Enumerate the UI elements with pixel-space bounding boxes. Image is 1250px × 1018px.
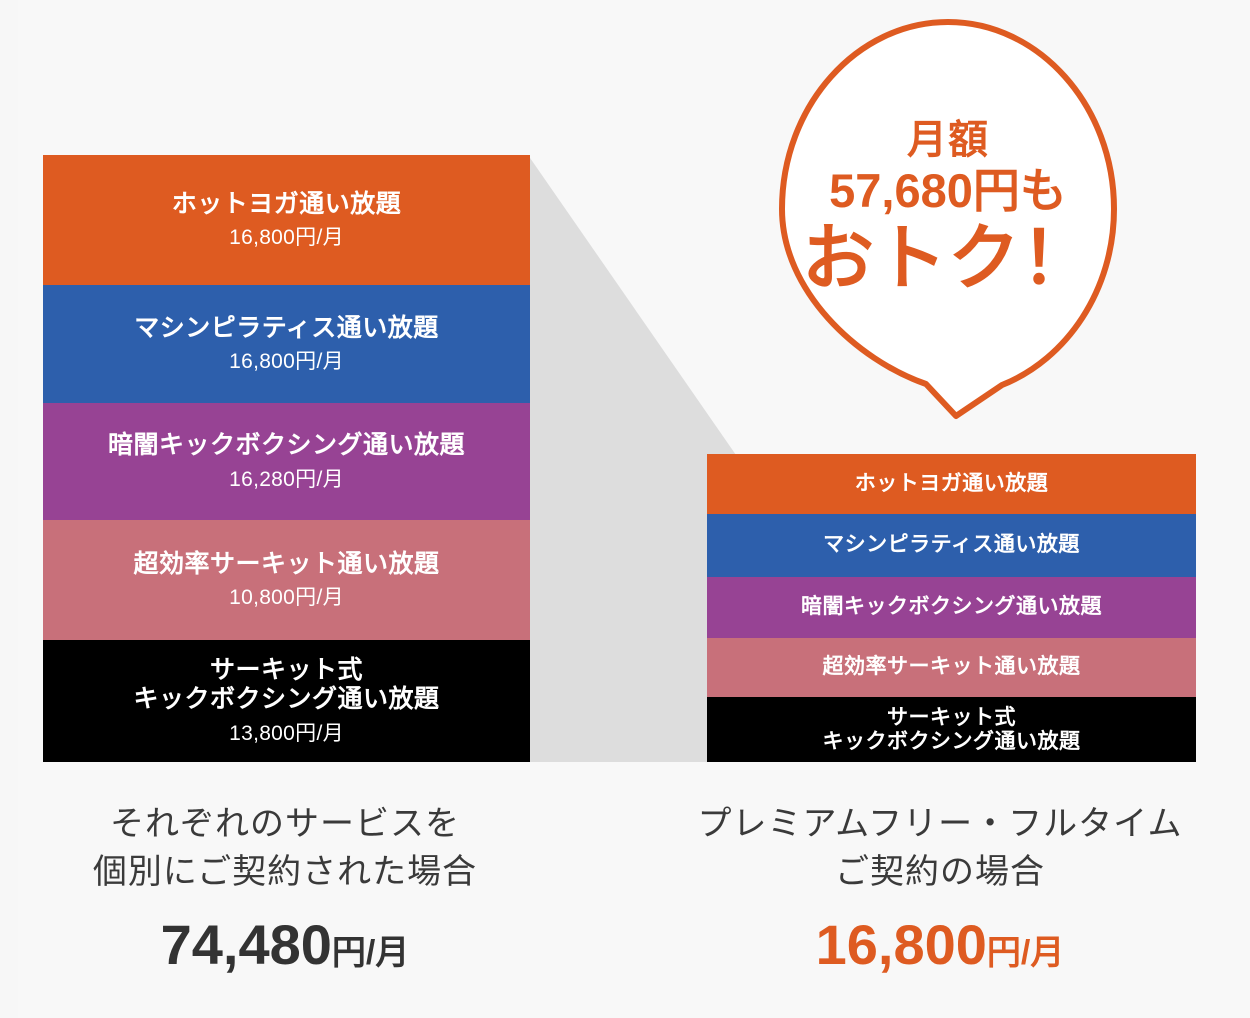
service-bar-circuit-kickboxing: サーキット式 キックボクシング通い放題 xyxy=(707,697,1196,762)
connector-wedge xyxy=(528,155,736,762)
service-bar-label: マシンピラティス通い放題 xyxy=(823,533,1080,558)
premium-total-price: 16,800円/月 xyxy=(660,917,1220,973)
service-bar-label: サーキット式 キックボクシング通い放題 xyxy=(133,656,439,715)
service-bar-efficient-circuit: 超効率サーキット通い放題 xyxy=(707,638,1196,697)
service-bar-circuit-kickboxing: サーキット式 キックボクシング通い放題 13,800円/月 xyxy=(43,640,530,762)
service-bar-label: 暗闇キックボクシング通い放題 xyxy=(108,431,465,461)
caption-line-1: プレミアムフリー・フルタイム xyxy=(660,800,1220,848)
bubble-shape xyxy=(778,18,1118,422)
service-bar-dark-kickboxing: 暗闇キックボクシング通い放題 16,280円/月 xyxy=(43,403,530,520)
service-bar-machine-pilates: マシンピラティス通い放題 xyxy=(707,514,1196,577)
individual-caption-block: それぞれのサービスを 個別にご契約された場合 74,480円/月 xyxy=(35,800,535,973)
service-bar-hot-yoga: ホットヨガ通い放題 16,800円/月 xyxy=(43,155,530,285)
service-bar-label: サーキット式 キックボクシング通い放題 xyxy=(823,706,1081,752)
premium-caption-block: プレミアムフリー・フルタイム ご契約の場合 16,800円/月 xyxy=(660,800,1220,973)
total-amount: 16,800 xyxy=(816,913,987,976)
individual-services-stack: ホットヨガ通い放題 16,800円/月 マシンピラティス通い放題 16,800円… xyxy=(43,155,530,762)
service-bar-label: 超効率サーキット通い放題 xyxy=(133,550,439,580)
total-unit: 円/月 xyxy=(987,934,1064,972)
caption-line-2: ご契約の場合 xyxy=(660,848,1220,896)
savings-callout-bubble: 月額 57,680円も おトク！ xyxy=(778,18,1118,422)
service-bar-label: 超効率サーキット通い放題 xyxy=(823,655,1081,680)
service-bar-hot-yoga: ホットヨガ通い放題 xyxy=(707,454,1196,514)
service-bar-price: 13,800円/月 xyxy=(229,721,344,746)
service-bar-machine-pilates: マシンピラティス通い放題 16,800円/月 xyxy=(43,285,530,403)
individual-total-price: 74,480円/月 xyxy=(35,917,535,973)
service-bar-price: 10,800円/月 xyxy=(229,585,344,610)
service-bar-label: 暗闇キックボクシング通い放題 xyxy=(801,595,1102,620)
total-amount: 74,480 xyxy=(161,913,332,976)
service-bar-label: ホットヨガ通い放題 xyxy=(172,190,402,220)
service-bar-price: 16,280円/月 xyxy=(229,467,344,492)
caption-line-2: 個別にご契約された場合 xyxy=(35,848,535,896)
premium-plan-stack: ホットヨガ通い放題 マシンピラティス通い放題 暗闇キックボクシング通い放題 超効… xyxy=(707,454,1196,762)
caption-line-1: それぞれのサービスを xyxy=(35,800,535,848)
service-bar-dark-kickboxing: 暗闇キックボクシング通い放題 xyxy=(707,577,1196,638)
service-bar-price: 16,800円/月 xyxy=(229,225,344,250)
service-bar-efficient-circuit: 超効率サーキット通い放題 10,800円/月 xyxy=(43,520,530,640)
total-unit: 円/月 xyxy=(332,934,409,972)
service-bar-label: ホットヨガ通い放題 xyxy=(855,472,1049,497)
comparison-infographic: ホットヨガ通い放題 16,800円/月 マシンピラティス通い放題 16,800円… xyxy=(0,0,1250,1018)
service-bar-label: マシンピラティス通い放題 xyxy=(134,314,439,344)
service-bar-price: 16,800円/月 xyxy=(229,349,344,374)
